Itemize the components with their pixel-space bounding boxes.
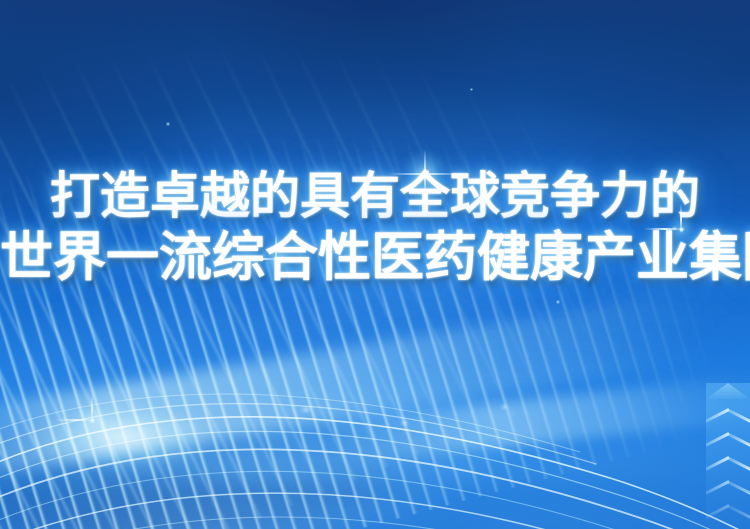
headline-line-1: 打造卓越的具有全球竞争力的 (0, 170, 750, 222)
chevron-tower-icon (706, 383, 750, 529)
headline-block: 打造卓越的具有全球竞争力的 世界一流综合性医药健康产业集团 (0, 170, 750, 284)
light-crest-burst (20, 392, 250, 482)
slogan-banner: 打造卓越的具有全球竞争力的 世界一流综合性医药健康产业集团 (0, 0, 750, 529)
headline-line-2: 世界一流综合性医药健康产业集团 (0, 230, 750, 285)
